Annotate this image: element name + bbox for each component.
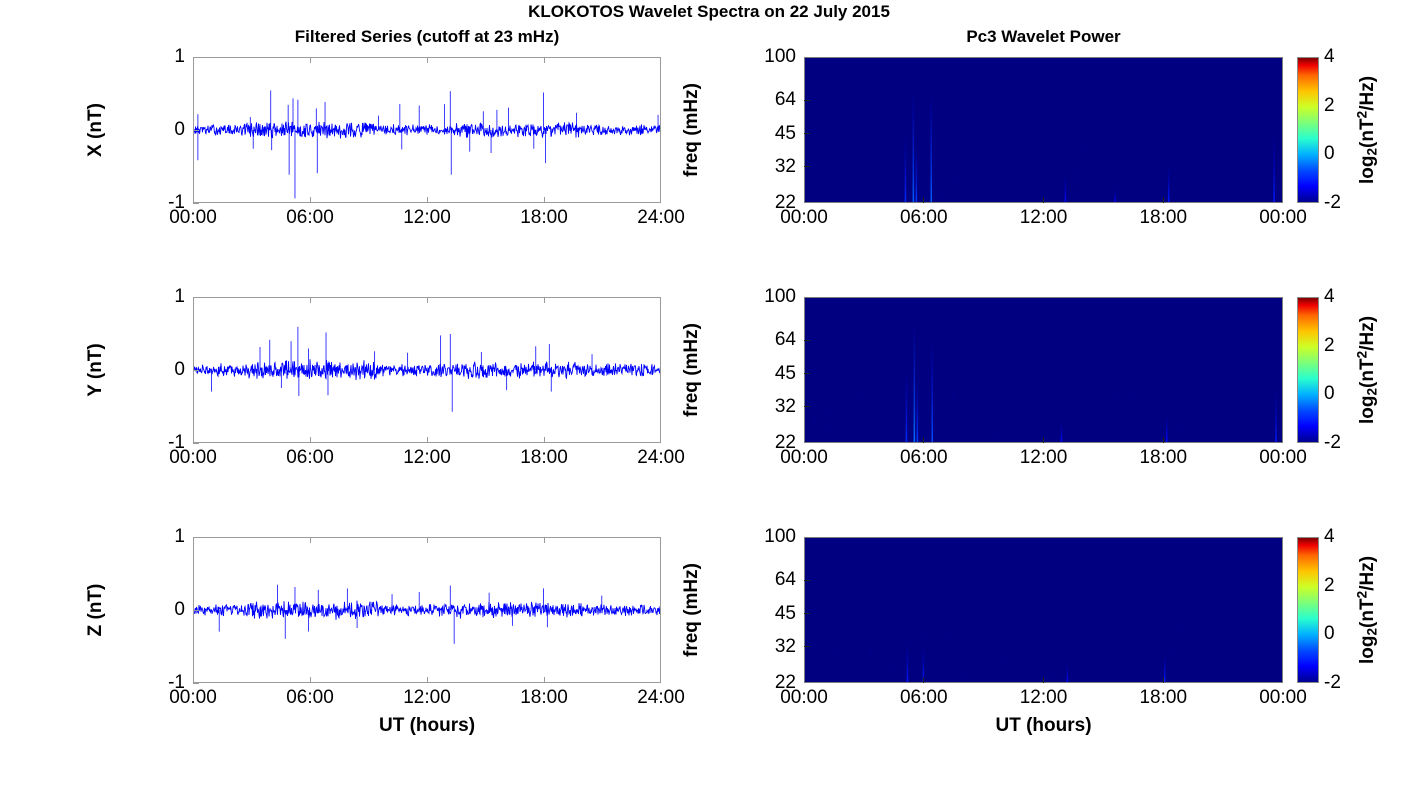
colorbar-tick-label: 2 (1324, 335, 1335, 357)
timeseries-trace (194, 298, 660, 442)
freq-tick-mark (804, 613, 810, 614)
colorbar-tick-label: 4 (1324, 526, 1335, 548)
spectrogram-axes-z (804, 537, 1283, 683)
spectrogram-xtick-mark (1043, 197, 1044, 203)
freq-tick-mark (804, 646, 810, 647)
ytick-mark (193, 203, 199, 204)
ytick-label: 1 (137, 46, 185, 68)
spectrogram-image (805, 298, 1282, 442)
freq-tick-mark (804, 133, 810, 134)
spectrogram-xtick-mark (923, 437, 924, 443)
colorbar-tick-label: 4 (1324, 286, 1335, 308)
spectrogram-xtick-label: 18:00 (1139, 447, 1187, 469)
timeseries-xlabel: UT (hours) (379, 715, 475, 737)
spectrogram-xtick-label: 00:00 (780, 447, 828, 469)
xtick-mark (544, 437, 545, 443)
xtick-label: 06:00 (286, 447, 334, 469)
ytick-mark (193, 130, 199, 131)
freq-tick-mark (804, 100, 810, 101)
xtick-label: 18:00 (520, 207, 568, 229)
xtick-mark (544, 297, 545, 303)
xtick-label: 24:00 (637, 687, 685, 709)
timeseries-ylabel: Y (nT) (85, 343, 107, 396)
left-column-title: Filtered Series (cutoff at 23 mHz) (193, 27, 661, 47)
xtick-label: 24:00 (637, 207, 685, 229)
xtick-label: 24:00 (637, 447, 685, 469)
spectrogram-xtick-label: 12:00 (1020, 207, 1068, 229)
spectrogram-xlabel: UT (hours) (995, 715, 1091, 737)
spectrogram-image (805, 538, 1282, 682)
spectrogram-xtick-label: 00:00 (780, 207, 828, 229)
spectrogram-xtick-mark (1043, 677, 1044, 683)
spectrogram-xtick-label: 12:00 (1020, 687, 1068, 709)
xtick-label: 00:00 (169, 447, 217, 469)
freq-tick-mark (804, 406, 810, 407)
xtick-label: 06:00 (286, 687, 334, 709)
right-column-title: Pc3 Wavelet Power (804, 27, 1283, 47)
colorbar-tick-label: 2 (1324, 575, 1335, 597)
xtick-mark (544, 57, 545, 63)
ytick-mark (193, 683, 199, 684)
freq-tick-label: 45 (742, 363, 796, 385)
timeseries-trace (194, 58, 660, 202)
xtick-label: 18:00 (520, 447, 568, 469)
ytick-mark (193, 610, 199, 611)
figure-canvas: KLOKOTOS Wavelet Spectra on 22 July 2015… (0, 0, 1418, 788)
spectrogram-ylabel: freq (mHz) (681, 323, 703, 417)
ytick-label: 0 (137, 119, 185, 141)
ytick-label: 0 (137, 359, 185, 381)
freq-tick-mark (804, 580, 810, 581)
xtick-mark (310, 437, 311, 443)
spectrogram-xtick-mark (1163, 677, 1164, 683)
freq-tick-label: 45 (742, 603, 796, 625)
xtick-mark (427, 57, 428, 63)
spectrogram-xtick-mark (923, 677, 924, 683)
ytick-mark (193, 57, 199, 58)
spectrogram-xtick-label: 00:00 (1259, 687, 1307, 709)
freq-tick-label: 100 (742, 526, 796, 548)
freq-tick-label: 32 (742, 396, 796, 418)
freq-tick-label: 100 (742, 286, 796, 308)
spectrogram-ylabel: freq (mHz) (681, 563, 703, 657)
spectrogram-xtick-label: 00:00 (1259, 447, 1307, 469)
spectrogram-xtick-mark (1043, 437, 1044, 443)
xtick-label: 00:00 (169, 207, 217, 229)
freq-tick-mark (804, 166, 810, 167)
ytick-label: 1 (137, 526, 185, 548)
page-title: KLOKOTOS Wavelet Spectra on 22 July 2015 (0, 2, 1418, 22)
xtick-mark (310, 537, 311, 543)
timeseries-ylabel: Z (nT) (85, 584, 107, 637)
spectrogram-image (805, 58, 1282, 202)
freq-tick-label: 32 (742, 156, 796, 178)
xtick-label: 12:00 (403, 207, 451, 229)
colorbar-tick-label: 0 (1324, 383, 1335, 405)
freq-tick-mark (804, 373, 810, 374)
spectrogram-xtick-label: 00:00 (780, 687, 828, 709)
freq-tick-label: 45 (742, 123, 796, 145)
spectrogram-xtick-label: 00:00 (1259, 207, 1307, 229)
spectrogram-xtick-mark (923, 197, 924, 203)
spectrogram-xtick-label: 06:00 (900, 447, 948, 469)
spectrogram-xtick-label: 06:00 (900, 687, 948, 709)
freq-tick-label: 100 (742, 46, 796, 68)
spectrogram-xtick-label: 18:00 (1139, 207, 1187, 229)
colorbar-tick-label: 4 (1324, 46, 1335, 68)
timeseries-trace (194, 538, 660, 682)
colorbar-label: log2(nT2/Hz) (1355, 556, 1380, 664)
timeseries-axes-x (193, 57, 661, 203)
freq-tick-label: 32 (742, 636, 796, 658)
ytick-mark (193, 537, 199, 538)
xtick-label: 06:00 (286, 207, 334, 229)
spectrogram-axes-x (804, 57, 1283, 203)
spectrogram-axes-y (804, 297, 1283, 443)
colorbar-tick-label: 0 (1324, 623, 1335, 645)
spectrogram-xtick-label: 12:00 (1020, 447, 1068, 469)
spectrogram-xtick-mark (1163, 197, 1164, 203)
colorbar-tick-label: 2 (1324, 95, 1335, 117)
xtick-mark (427, 437, 428, 443)
xtick-mark (310, 297, 311, 303)
freq-tick-mark (804, 340, 810, 341)
xtick-mark (427, 677, 428, 683)
xtick-mark (310, 197, 311, 203)
colorbar-label: log2(nT2/Hz) (1355, 316, 1380, 424)
xtick-label: 18:00 (520, 687, 568, 709)
xtick-mark (544, 197, 545, 203)
xtick-label: 00:00 (169, 687, 217, 709)
freq-tick-label: 64 (742, 89, 796, 111)
freq-tick-label: 64 (742, 329, 796, 351)
colorbar-tick-label: -2 (1324, 192, 1341, 214)
colorbar (1297, 537, 1319, 683)
xtick-mark (310, 57, 311, 63)
xtick-mark (427, 297, 428, 303)
xtick-mark (544, 537, 545, 543)
colorbar (1297, 57, 1319, 203)
ytick-label: 0 (137, 599, 185, 621)
ytick-mark (193, 297, 199, 298)
xtick-mark (427, 197, 428, 203)
xtick-mark (310, 677, 311, 683)
spectrogram-xtick-label: 18:00 (1139, 687, 1187, 709)
colorbar (1297, 297, 1319, 443)
xtick-mark (544, 677, 545, 683)
spectrogram-xtick-mark (1163, 437, 1164, 443)
spectrogram-xtick-label: 06:00 (900, 207, 948, 229)
xtick-label: 12:00 (403, 447, 451, 469)
freq-tick-label: 64 (742, 569, 796, 591)
xtick-label: 12:00 (403, 687, 451, 709)
timeseries-axes-z (193, 537, 661, 683)
ytick-mark (193, 370, 199, 371)
timeseries-ylabel: X (nT) (85, 103, 107, 157)
colorbar-tick-label: 0 (1324, 143, 1335, 165)
colorbar-tick-label: -2 (1324, 672, 1341, 694)
ytick-label: 1 (137, 286, 185, 308)
spectrogram-ylabel: freq (mHz) (681, 83, 703, 177)
colorbar-label: log2(nT2/Hz) (1355, 76, 1380, 184)
timeseries-axes-y (193, 297, 661, 443)
xtick-mark (427, 537, 428, 543)
ytick-mark (193, 443, 199, 444)
colorbar-tick-label: -2 (1324, 432, 1341, 454)
